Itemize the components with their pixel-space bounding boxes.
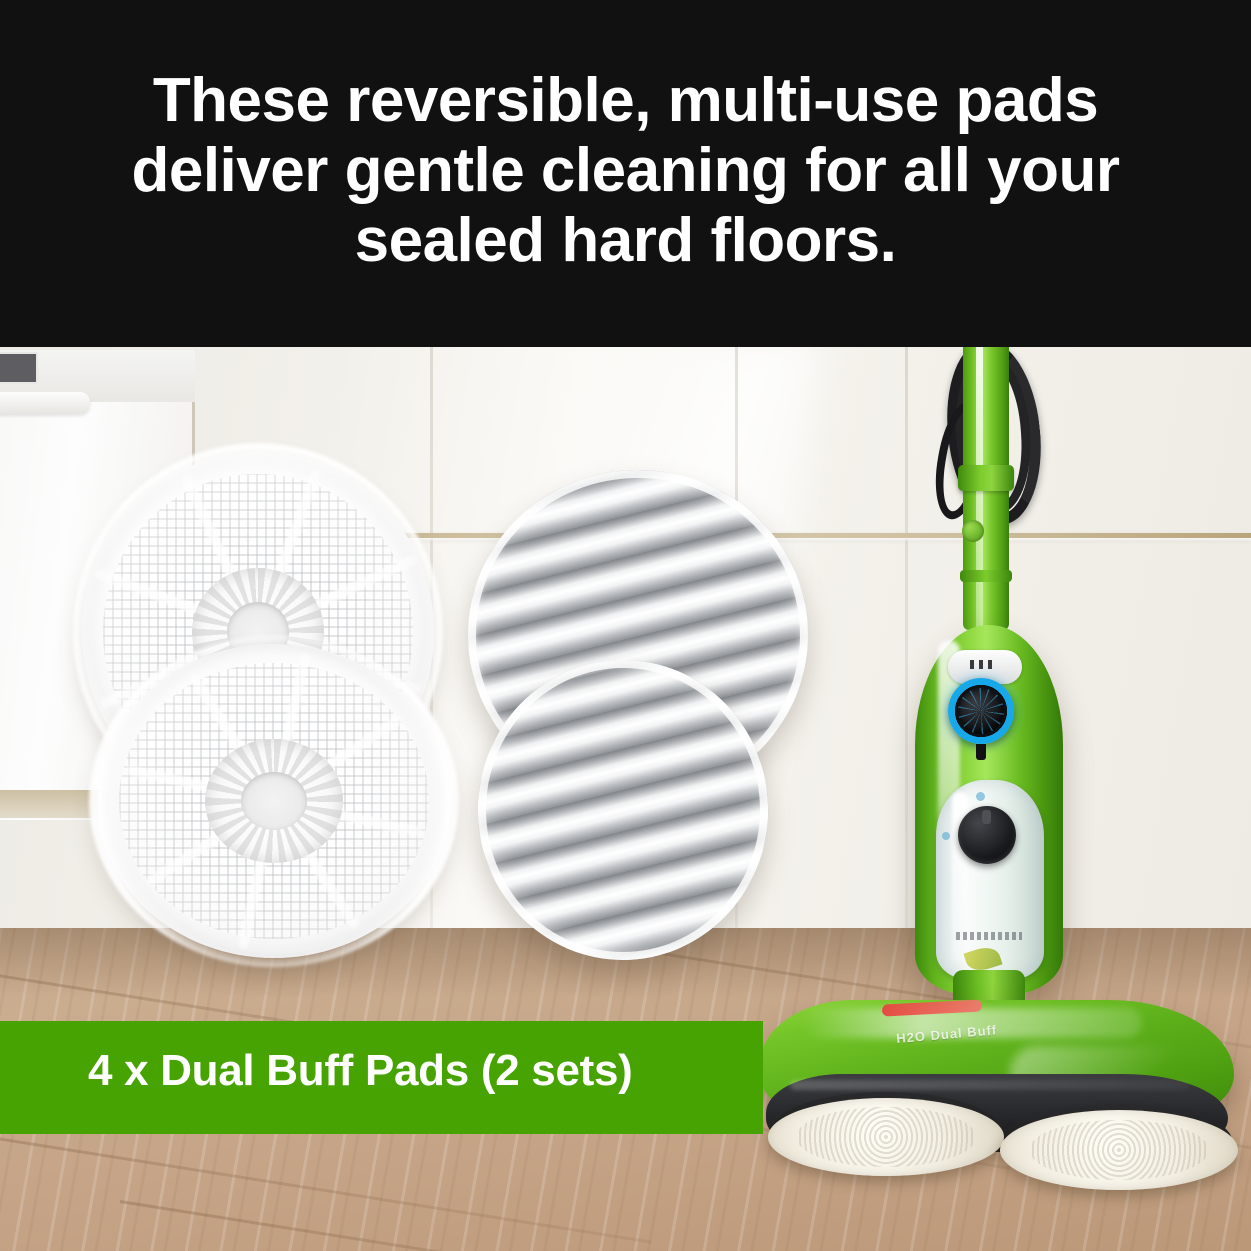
attached-pad-left	[768, 1098, 1004, 1176]
mop-pole-joint	[960, 570, 1012, 582]
pad-fringe	[478, 660, 768, 960]
mop-head-skirt-highlight	[790, 1080, 1190, 1090]
product-marketing-image: H2O Dual Buff These reversible, multi-us…	[0, 0, 1251, 1251]
steam-mop-product: H2O Dual Buff	[760, 340, 1251, 1170]
tank-level-mark	[976, 792, 985, 801]
tank-level-mark	[942, 832, 950, 840]
pole-release-button[interactable]	[962, 520, 984, 542]
tank-warning-label	[956, 932, 1022, 940]
headline-text: These reversible, multi-use pads deliver…	[0, 66, 1251, 276]
pad-hub-core	[241, 772, 307, 830]
callout-banner-label: 4 x Dual Buff Pads (2 sets)	[88, 1046, 633, 1096]
tank-cap-notch	[982, 810, 991, 824]
headline-line-2: deliver gentle cleaning for all your	[0, 136, 1251, 206]
mop-head-assembly: H2O Dual Buff	[760, 1000, 1234, 1168]
attached-pad-right	[1000, 1110, 1238, 1190]
appliance-handle	[0, 392, 90, 414]
dual-buff-pad-striped-front	[478, 660, 768, 960]
dial-stem	[976, 744, 986, 760]
steam-dial-icons	[958, 688, 1004, 734]
dual-buff-pad-white-front	[98, 644, 450, 958]
appliance-display	[0, 352, 38, 384]
headline-line-1: These reversible, multi-use pads	[0, 66, 1251, 136]
attached-pad-texture	[796, 1107, 975, 1166]
control-plate-markings	[970, 660, 996, 669]
mop-pole-collar	[958, 465, 1014, 491]
headline-line-3: sealed hard floors.	[0, 206, 1251, 276]
attached-pad-texture	[1029, 1120, 1210, 1181]
